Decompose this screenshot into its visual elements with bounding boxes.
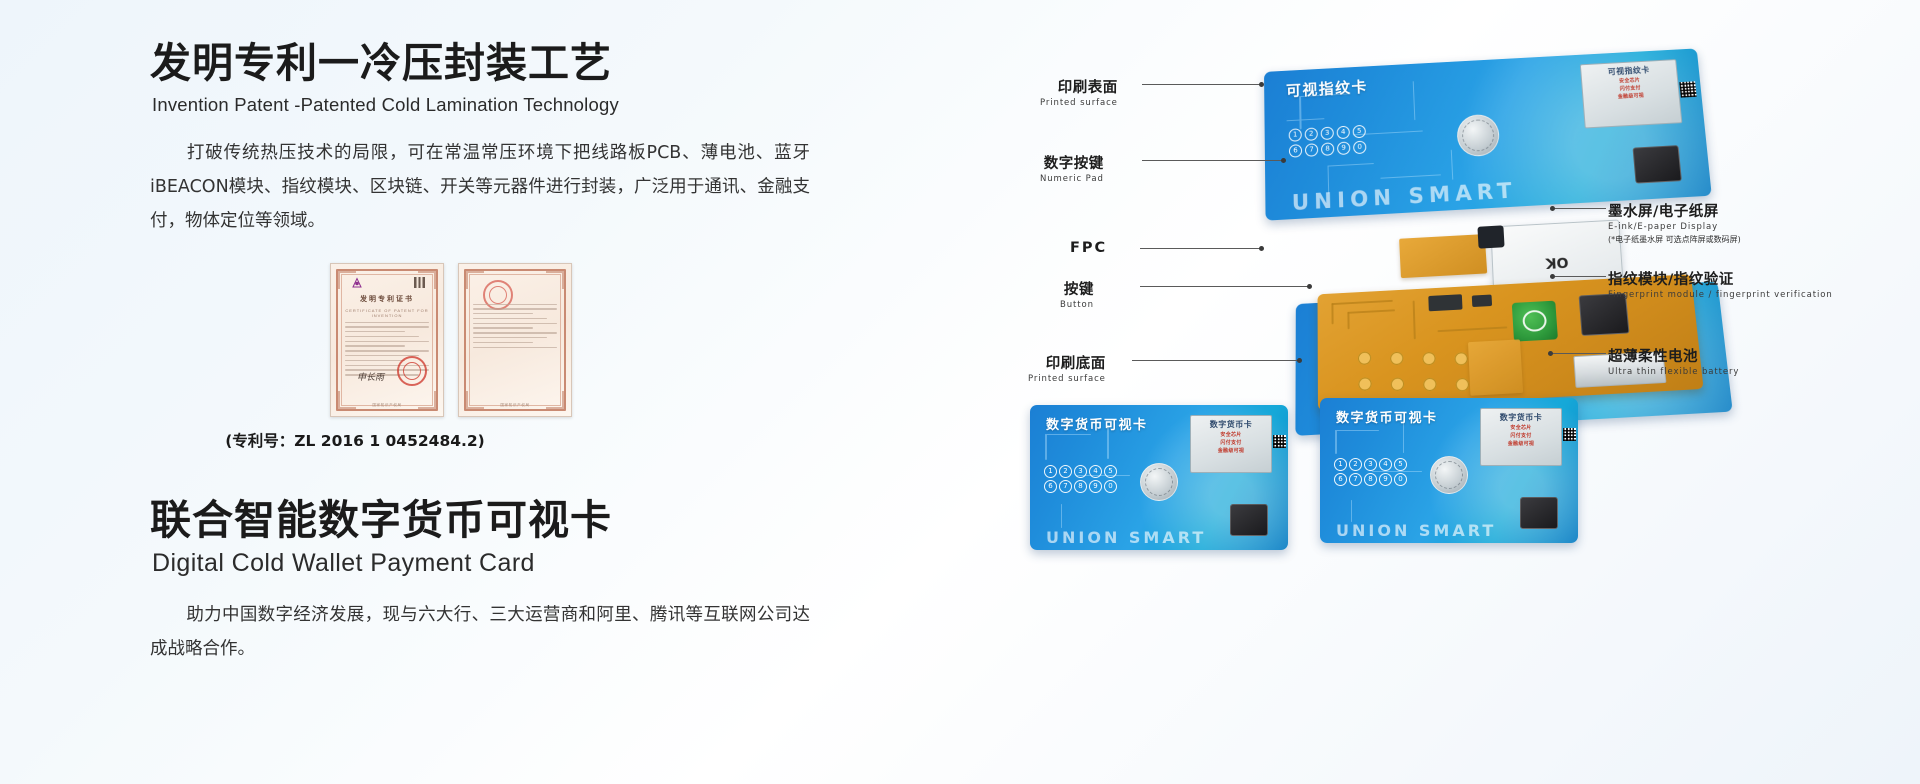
keypad-key[interactable]: 0 bbox=[1104, 480, 1117, 493]
label-fpc: FPC bbox=[1070, 240, 1107, 256]
leader-line-eink-display bbox=[1552, 208, 1606, 209]
exploded-diagram: 可视指纹卡 可视指纹卡 安全芯片 闪付支付 金融级可视 1 2 3 4 5 6 … bbox=[1100, 40, 1890, 750]
certificate-front: 发明专利证书 CERTIFICATE OF PATENT FOR INVENTI… bbox=[330, 263, 444, 417]
label-numeric-pad: 数字按键 Numeric Pad bbox=[1040, 152, 1104, 184]
card-qr-icon bbox=[1273, 435, 1286, 448]
label-cn: 超薄柔性电池 bbox=[1608, 345, 1739, 366]
card-screen-line: 闪付支付 bbox=[1197, 440, 1265, 448]
certificate-qr-icon bbox=[414, 277, 425, 288]
card-logo-digital-front: 数字货币可视卡 bbox=[1046, 414, 1148, 433]
leader-line-fpc bbox=[1140, 248, 1262, 249]
driver-chip-icon bbox=[1477, 225, 1504, 248]
keypad-key[interactable]: 0 bbox=[1394, 473, 1407, 486]
label-en: Printed surface bbox=[1040, 98, 1118, 108]
card-brand-text: UNION SMART bbox=[1336, 521, 1496, 540]
numeric-keypad-digital-front[interactable]: 1 2 3 4 5 6 7 8 9 0 bbox=[1044, 465, 1117, 493]
leader-line-fingerprint-module bbox=[1552, 276, 1606, 277]
card-qr-icon bbox=[1679, 81, 1696, 97]
corner-ornament-icon bbox=[466, 271, 484, 289]
card-screen-fingerprint: 可视指纹卡 安全芯片 闪付支付 金融级可视 bbox=[1580, 59, 1682, 128]
wallet-paragraph: 助力中国数字经济发展，现与六大行、三大运营商和阿里、腾讯等互联网公司达成战略合作… bbox=[150, 598, 810, 666]
keypad-key[interactable]: 8 bbox=[1321, 142, 1334, 156]
card-screen-digital-front: 数字货币卡 安全芯片 闪付支付 金融级可视 bbox=[1190, 415, 1272, 473]
keypad-key[interactable]: 1 bbox=[1289, 128, 1302, 142]
keypad-key[interactable]: 2 bbox=[1059, 465, 1072, 478]
keypad-key[interactable]: 6 bbox=[1289, 144, 1302, 158]
certificate-signature: 申长雨 bbox=[357, 370, 384, 383]
card-screen-line: 安全芯片 bbox=[1487, 425, 1555, 433]
keypad-key[interactable]: 8 bbox=[1364, 473, 1377, 486]
label-cn: 按键 bbox=[1060, 278, 1094, 299]
corner-ornament-icon bbox=[546, 271, 564, 289]
label-en: Fingerprint module / fingerprint verific… bbox=[1608, 290, 1833, 300]
wallet-paragraph-text: 助力中国数字经济发展，现与六大行、三大运营商和阿里、腾讯等互联网公司达成战略合作… bbox=[150, 605, 810, 659]
keypad-key[interactable]: 3 bbox=[1321, 127, 1334, 141]
label-fingerprint-module: 指纹模块/指纹验证 Fingerprint module / fingerpri… bbox=[1608, 268, 1833, 300]
patent-title-en: Invention Patent -Patented Cold Laminati… bbox=[152, 94, 850, 116]
keypad-key[interactable]: 2 bbox=[1349, 458, 1362, 471]
certificate-subtitle: CERTIFICATE OF PATENT FOR INVENTION bbox=[331, 308, 443, 318]
keypad-key[interactable]: 9 bbox=[1089, 480, 1102, 493]
card-screen-lines: 安全芯片 闪付支付 金融级可视 bbox=[1588, 76, 1673, 103]
keypad-key[interactable]: 7 bbox=[1059, 480, 1072, 493]
keypad-key[interactable]: 8 bbox=[1074, 480, 1087, 493]
keypad-key[interactable]: 2 bbox=[1305, 127, 1318, 141]
keypad-key[interactable]: 3 bbox=[1074, 465, 1087, 478]
card-screen-line: 安全芯片 bbox=[1197, 432, 1265, 440]
label-cn: 印刷底面 bbox=[1028, 352, 1106, 373]
card-screen-line: 闪付支付 bbox=[1487, 433, 1555, 441]
card-brand-text: UNION SMART bbox=[1046, 528, 1206, 547]
label-cn: FPC bbox=[1070, 240, 1107, 256]
certificate-footer: 国家知识产权局 bbox=[459, 403, 571, 408]
label-note: (*电子纸墨水屏 可选点阵屏或数码屏) bbox=[1608, 234, 1741, 245]
keypad-key[interactable]: 5 bbox=[1353, 125, 1366, 139]
card-screen-line: 金融级可视 bbox=[1487, 441, 1555, 449]
label-cn: 指纹模块/指纹验证 bbox=[1608, 268, 1833, 289]
patent-paragraph-text: 打破传统热压技术的局限，可在常温常压环境下把线路板PCB、薄电池、蓝牙iBEAC… bbox=[150, 143, 810, 231]
label-printed-surface-bottom: 印刷底面 Printed surface bbox=[1028, 352, 1106, 384]
navigation-button-icon[interactable] bbox=[1430, 456, 1468, 494]
fingerprint-sensor-icon[interactable] bbox=[1230, 504, 1268, 536]
fpc-ribbon-inner bbox=[1468, 339, 1523, 395]
keypad-key[interactable]: 0 bbox=[1353, 141, 1366, 155]
keypad-key[interactable]: 6 bbox=[1334, 473, 1347, 486]
leader-line-printed-surface-top bbox=[1142, 84, 1262, 85]
keypad-key[interactable]: 6 bbox=[1044, 480, 1057, 493]
leader-line-flexible-battery bbox=[1550, 353, 1606, 354]
digital-card-front: 数字货币可视卡 数字货币卡 安全芯片 闪付支付 金融级可视 1 2 3 4 5 … bbox=[1030, 405, 1288, 550]
label-printed-surface-top: 印刷表面 Printed surface bbox=[1040, 76, 1118, 108]
label-cn: 印刷表面 bbox=[1040, 76, 1118, 97]
section-wallet: 联合智能数字货币可视卡 Digital Cold Wallet Payment … bbox=[150, 497, 850, 666]
card-logo-digital-back: 数字货币可视卡 bbox=[1336, 407, 1438, 426]
left-content-column: 发明专利一冷压封装工艺 Invention Patent -Patented C… bbox=[150, 40, 850, 666]
leader-line-printed-surface-bottom bbox=[1132, 360, 1300, 361]
keypad-key[interactable]: 3 bbox=[1364, 458, 1377, 471]
label-button: 按键 Button bbox=[1060, 278, 1094, 310]
certificate-footer: 国家知识产权局 bbox=[331, 403, 443, 408]
keypad-key[interactable]: 5 bbox=[1394, 458, 1407, 471]
wallet-title-en: Digital Cold Wallet Payment Card bbox=[152, 549, 850, 578]
patent-number: (专利号：ZL 2016 1 0452484.2) bbox=[145, 429, 565, 451]
keypad-key[interactable]: 9 bbox=[1379, 473, 1392, 486]
fingerprint-card-top: 可视指纹卡 可视指纹卡 安全芯片 闪付支付 金融级可视 1 2 3 4 5 6 … bbox=[1264, 48, 1712, 220]
numeric-keypad-digital-back[interactable]: 1 2 3 4 5 6 7 8 9 0 bbox=[1334, 458, 1407, 486]
label-cn: 数字按键 bbox=[1040, 152, 1104, 173]
keypad-key[interactable]: 7 bbox=[1305, 143, 1318, 157]
keypad-key[interactable]: 4 bbox=[1379, 458, 1392, 471]
leader-line-numeric-pad bbox=[1142, 160, 1284, 161]
keypad-key[interactable]: 1 bbox=[1334, 458, 1347, 471]
certificate-body-lines bbox=[473, 304, 557, 352]
label-eink-display: 墨水屏/电子纸屏 E-ink/E-paper Display (*电子纸墨水屏 … bbox=[1608, 200, 1741, 245]
card-screen-lines: 安全芯片 闪付支付 金融级可视 bbox=[1487, 425, 1555, 448]
fingerprint-sensor-icon[interactable] bbox=[1520, 497, 1558, 529]
certificate-seal-icon bbox=[397, 356, 427, 386]
numeric-keypad-fingerprint[interactable]: 1 2 3 4 5 6 7 8 9 0 bbox=[1289, 125, 1367, 158]
keypad-key[interactable]: 4 bbox=[1089, 465, 1102, 478]
keypad-key[interactable]: 9 bbox=[1337, 141, 1350, 155]
card-screen-title: 数字货币卡 bbox=[1481, 412, 1561, 423]
card-screen-digital-back: 数字货币卡 安全芯片 闪付支付 金融级可视 bbox=[1480, 408, 1562, 466]
fpc-ribbon-top bbox=[1399, 234, 1487, 278]
wallet-title-cn: 联合智能数字货币可视卡 bbox=[150, 497, 850, 544]
card-qr-icon bbox=[1563, 428, 1576, 441]
product-page: 发明专利一冷压封装工艺 Invention Patent -Patented C… bbox=[0, 0, 1920, 784]
patent-title-cn: 发明专利一冷压封装工艺 bbox=[150, 40, 850, 87]
leader-line-button bbox=[1140, 286, 1310, 287]
certificate-title: 发明专利证书 bbox=[331, 294, 443, 304]
digital-card-back: 数字货币可视卡 数字货币卡 安全芯片 闪付支付 金融级可视 1 2 3 4 5 … bbox=[1320, 398, 1578, 543]
card-screen-lines: 安全芯片 闪付支付 金融级可视 bbox=[1197, 432, 1265, 455]
epaper-label: OK bbox=[1545, 254, 1569, 271]
fingerprint-module-green bbox=[1512, 301, 1558, 342]
section-patent: 发明专利一冷压封装工艺 Invention Patent -Patented C… bbox=[150, 40, 850, 451]
certificate-back: 国家知识产权局 bbox=[458, 263, 572, 417]
label-en: E-ink/E-paper Display bbox=[1608, 222, 1741, 232]
label-en: Button bbox=[1060, 300, 1094, 310]
card-screen-line: 金融级可视 bbox=[1197, 448, 1265, 456]
patent-paragraph: 打破传统热压技术的局限，可在常温常压环境下把线路板PCB、薄电池、蓝牙iBEAC… bbox=[150, 136, 810, 238]
label-cn: 墨水屏/电子纸屏 bbox=[1608, 200, 1741, 221]
label-en: Printed surface bbox=[1028, 374, 1106, 384]
patent-certificate-images: 发明专利证书 CERTIFICATE OF PATENT FOR INVENTI… bbox=[330, 263, 572, 417]
fingerprint-sensor-icon[interactable] bbox=[1633, 145, 1682, 184]
card-screen-title: 数字货币卡 bbox=[1191, 419, 1271, 430]
keypad-key[interactable]: 5 bbox=[1104, 465, 1117, 478]
keypad-key[interactable]: 4 bbox=[1337, 126, 1350, 140]
emblem-icon bbox=[351, 277, 363, 289]
keypad-key[interactable]: 1 bbox=[1044, 465, 1057, 478]
label-en: Numeric Pad bbox=[1040, 174, 1104, 184]
label-en: Ultra thin flexible battery bbox=[1608, 367, 1739, 377]
navigation-button-icon[interactable] bbox=[1140, 463, 1178, 501]
label-flexible-battery: 超薄柔性电池 Ultra thin flexible battery bbox=[1608, 345, 1739, 377]
keypad-key[interactable]: 7 bbox=[1349, 473, 1362, 486]
